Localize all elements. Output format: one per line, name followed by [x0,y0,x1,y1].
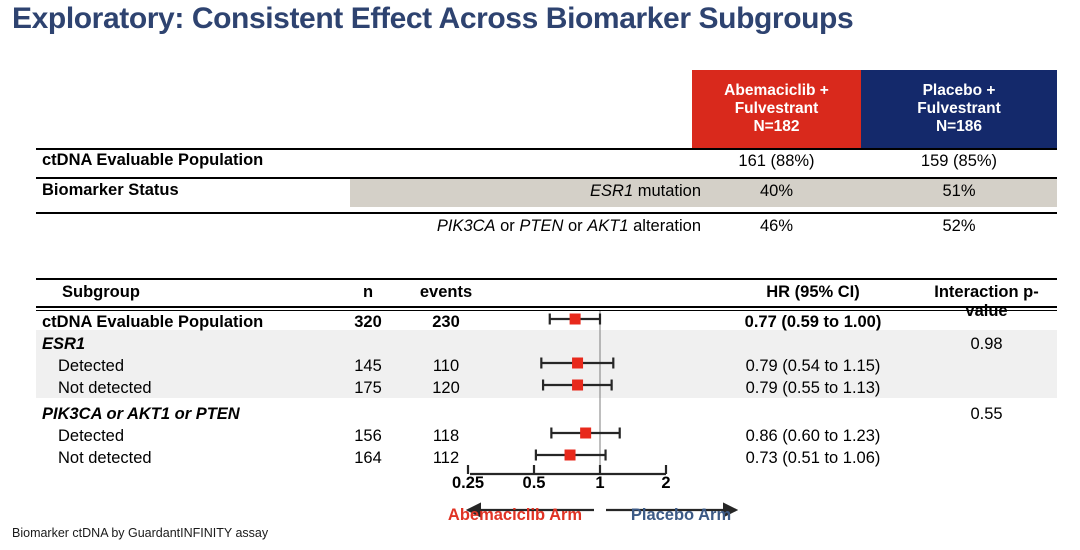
cell-hr: 0.73 (0.51 to 1.06) [686,449,940,468]
header-hr: HR (95% CI) [686,283,940,302]
forest-rule-header [36,306,1057,308]
cell-abemaciclib: 40% [692,182,861,201]
cell-interaction-pvalue: 0.98 [916,335,1057,354]
cell-hr: 0.86 (0.60 to 1.23) [686,427,940,446]
cell-placebo: 52% [861,217,1057,236]
table-row: PIK3CA or AKT1 or PTEN 0.55 [36,405,1057,427]
axis-tick-label: 1 [570,474,630,493]
cell-events: 120 [408,379,484,398]
cell-n: 164 [336,449,400,468]
forest-rule-header-lower [36,310,1057,311]
forest-axis-tick-labels: 0.25 0.5 1 2 [36,474,1057,500]
biomarker-name-esr1: ESR1 mutation [590,182,701,201]
row-label: Not detected [58,379,152,398]
forest-rule-top [36,278,1057,280]
row-label: Detected [58,357,124,376]
table-row: Detected 156 118 0.86 (0.60 to 1.23) [36,427,1057,449]
row-label-biomarker-status: Biomarker Status [42,181,179,200]
cell-events: 118 [408,427,484,446]
cell-placebo: 51% [861,182,1057,201]
cell-events: 112 [408,449,484,468]
column-header-placebo: Placebo + Fulvestrant N=186 [861,70,1057,148]
header-events: events [408,283,484,302]
row-label: ctDNA Evaluable Population [42,313,263,332]
table-row: Detected 145 110 0.79 (0.54 to 1.15) [36,357,1057,379]
header-line-1: Placebo + [923,82,996,100]
cell-hr: 0.79 (0.55 to 1.13) [686,379,940,398]
cell-events: 230 [408,313,484,332]
table-row: PIK3CA or PTEN or AKT1 alteration 46% 52… [36,214,1057,243]
cell-n: 156 [336,427,400,446]
row-label: Not detected [58,449,152,468]
cell-hr: 0.77 (0.59 to 1.00) [686,313,940,332]
header-line-1: Abemaciclib + [724,82,829,100]
cell-abemaciclib: 161 (88%) [692,152,861,171]
table-row: ESR1 0.98 [36,335,1057,357]
label-placebo-arm: Placebo Arm [606,506,756,525]
biomarker-name-pik3ca-pten-akt1: PIK3CA or PTEN or AKT1 alteration [437,217,701,236]
footnote: Biomarker ctDNA by GuardantINFINITY assa… [12,526,268,540]
cell-placebo: 159 (85%) [861,152,1057,171]
cell-hr: 0.79 (0.54 to 1.15) [686,357,940,376]
forest-plot-table: Subgroup n events HR (95% CI) Interactio… [36,278,1057,478]
axis-tick-label: 0.25 [438,474,498,493]
cell-abemaciclib: 46% [692,217,861,236]
section-label-pik3ca-akt1-pten: PIK3CA or AKT1 or PTEN [42,405,240,424]
section-label-esr1: ESR1 [42,335,85,354]
summary-table: Abemaciclib + Fulvestrant N=182 Placebo … [36,70,1057,235]
axis-tick-label: 0.5 [504,474,564,493]
cell-n: 175 [336,379,400,398]
cell-interaction-pvalue: 0.55 [916,405,1057,424]
axis-tick-label: 2 [636,474,696,493]
table-row: ctDNA Evaluable Population 320 230 0.77 … [36,313,1057,335]
header-line-2: Fulvestrant [735,100,819,118]
cell-events: 110 [408,357,484,376]
table-row: ctDNA Evaluable Population 161 (88%) 159… [36,149,1057,178]
label-abemaciclib-arm: Abemaciclib Arm [430,506,600,525]
header-line-3: N=182 [753,118,799,136]
cell-n: 145 [336,357,400,376]
table-row: Not detected 164 112 0.73 (0.51 to 1.06) [36,449,1057,471]
cell-n: 320 [336,313,400,332]
header-line-3: N=186 [936,118,982,136]
column-header-abemaciclib: Abemaciclib + Fulvestrant N=182 [692,70,861,148]
header-n: n [336,283,400,302]
forest-header-row: Subgroup n events HR (95% CI) Interactio… [36,283,1057,305]
page-title: Exploratory: Consistent Effect Across Bi… [12,2,1062,36]
row-label-ctdna-evaluable: ctDNA Evaluable Population [42,151,263,170]
row-label: Detected [58,427,124,446]
table-row: Not detected 175 120 0.79 (0.55 to 1.13) [36,379,1057,401]
table-row: Biomarker Status ESR1 mutation 40% 51% [36,179,1057,208]
header-subgroup: Subgroup [62,283,140,302]
header-line-2: Fulvestrant [917,100,1001,118]
